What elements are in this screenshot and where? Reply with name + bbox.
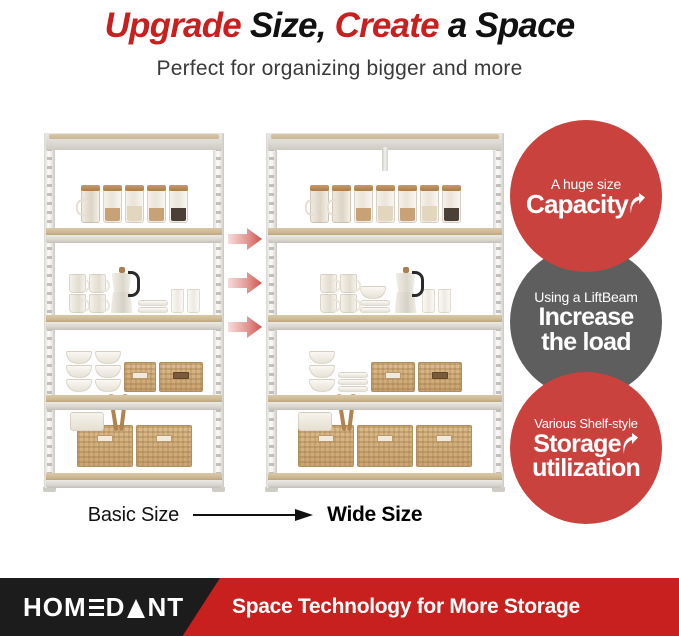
page-subtitle: Perfect for organizing bigger and more xyxy=(0,47,679,81)
shelf-items-tableware xyxy=(56,267,212,313)
plate-stack xyxy=(338,372,368,392)
page-title: Upgrade Size, Create a Space xyxy=(0,0,679,47)
mug-stack xyxy=(320,274,337,313)
shelf-post-left xyxy=(44,133,55,488)
brand-logo-part2: D xyxy=(106,592,126,623)
folded-towel xyxy=(70,412,104,431)
folded-towel xyxy=(298,412,332,431)
wicker-basket xyxy=(418,362,462,392)
mug xyxy=(340,294,357,313)
brand-logo: HOM D NT xyxy=(23,578,184,636)
mug xyxy=(69,274,86,293)
mug xyxy=(69,294,86,313)
brand-logo-a-glyph xyxy=(127,599,145,618)
plate xyxy=(360,300,390,306)
shelf-board-3 xyxy=(46,395,222,410)
shelf-post-right xyxy=(213,133,224,488)
plate xyxy=(338,386,368,392)
brand-logo-part1: HOM xyxy=(23,592,87,623)
size-comparison-labels: Basic Size Wide Size xyxy=(0,498,510,532)
bowl xyxy=(309,379,335,392)
plate xyxy=(338,379,368,385)
badge-capacity-headline-text: Capacity xyxy=(526,192,628,217)
badge-storage-headline-2: utilization xyxy=(532,456,640,480)
moka-pot xyxy=(109,267,135,313)
glass-jar xyxy=(169,189,188,223)
mug xyxy=(320,274,337,293)
glass-jar xyxy=(125,189,144,223)
plate-stack xyxy=(360,286,390,313)
glass-jar xyxy=(442,189,461,223)
wicker-basket xyxy=(124,362,156,392)
title-word-upgrade: Upgrade xyxy=(105,6,241,45)
glass-jar xyxy=(103,189,122,223)
wicker-basket-large xyxy=(77,425,133,467)
bowl xyxy=(95,379,121,392)
bowl xyxy=(95,365,121,378)
mug-stack xyxy=(340,274,357,313)
plate xyxy=(138,300,168,306)
header: Upgrade Size, Create a Space Perfect for… xyxy=(0,0,679,100)
up-arrow-icon xyxy=(622,433,639,455)
wicker-basket-large xyxy=(416,425,472,467)
ceramic-jar xyxy=(332,189,351,223)
badge-increase-load-headline-2: the load xyxy=(541,330,630,355)
badge-capacity-headline: Capacity xyxy=(526,192,646,217)
shelf-board-3 xyxy=(268,395,502,410)
mug xyxy=(89,294,106,313)
shelf-board-1 xyxy=(46,228,222,243)
mug xyxy=(320,294,337,313)
bowl xyxy=(66,351,92,364)
brand-logo-part3: NT xyxy=(147,592,184,623)
transition-arrow-icon xyxy=(228,272,262,294)
badge-storage-utilization: Various Shelf-style Storage utilization xyxy=(510,372,662,524)
mug xyxy=(340,274,357,293)
bowl-stack xyxy=(66,351,92,392)
shelf-board-4 xyxy=(46,473,222,488)
shelf-items-storage-baskets xyxy=(56,425,212,467)
badge-increase-load-headline-1: Increase xyxy=(538,305,633,330)
label-wide-size: Wide Size xyxy=(327,503,422,527)
shelf-top-cap xyxy=(46,133,222,150)
plate xyxy=(138,307,168,313)
title-word-create: Create xyxy=(335,6,439,45)
wicker-basket-large xyxy=(298,425,354,467)
drinking-glass xyxy=(171,289,184,313)
bowl xyxy=(66,365,92,378)
shelf-unit-wide xyxy=(266,133,504,488)
label-basic-size: Basic Size xyxy=(88,504,179,527)
footer-tagline: Space Technology for More Storage xyxy=(232,578,580,636)
bowl xyxy=(309,365,335,378)
shelf-items-storage-baskets xyxy=(278,425,492,467)
feature-badges: A huge size Capacity Using a LiftBeam In… xyxy=(500,120,679,520)
glass-jar xyxy=(398,189,417,223)
badge-storage-headline-text: Storage xyxy=(533,432,620,456)
wicker-basket xyxy=(159,362,203,392)
shelf-items-bowls-baskets xyxy=(278,351,492,392)
shelf-post-left xyxy=(266,133,277,488)
transition-arrow-icon xyxy=(228,228,262,250)
shelf-post-right xyxy=(493,133,504,488)
bowl-stack xyxy=(95,351,121,392)
glass-jar xyxy=(420,189,439,223)
shelf-items-jars xyxy=(56,189,212,223)
mug-stack xyxy=(89,274,106,313)
footer-bar: HOM D NT Space Technology for More Stora… xyxy=(0,578,679,636)
moka-pot xyxy=(393,267,419,313)
drinking-glass xyxy=(422,289,435,313)
transition-arrow-icon xyxy=(228,316,262,338)
shelf-items-bowls-baskets xyxy=(56,351,212,392)
glass-jar xyxy=(376,189,395,223)
wicker-basket-large xyxy=(136,425,192,467)
drinking-glass xyxy=(187,289,200,313)
shelf-board-2 xyxy=(46,315,222,330)
wicker-basket-large xyxy=(357,425,413,467)
shelf-unit-basic xyxy=(44,133,224,488)
shelf-items-jars xyxy=(278,189,492,223)
badge-storage-headline-1: Storage xyxy=(533,432,638,456)
shelf-board-4 xyxy=(268,473,502,488)
glass-jar xyxy=(354,189,373,223)
ceramic-jar xyxy=(81,189,100,223)
title-word-size: Size, xyxy=(250,6,326,45)
shelf-items-tableware xyxy=(278,267,492,313)
plate xyxy=(338,372,368,378)
ceramic-jar xyxy=(310,189,329,223)
lift-beam-support xyxy=(382,147,388,171)
bowl xyxy=(309,351,335,364)
title-word-a-space: a Space xyxy=(448,6,575,45)
mug xyxy=(89,274,106,293)
up-arrow-icon xyxy=(629,193,646,215)
shelf-board-2 xyxy=(268,315,502,330)
comparison-arrow-icon xyxy=(193,509,313,521)
badge-capacity: A huge size Capacity xyxy=(510,120,662,272)
brand-logo-e-glyph xyxy=(89,598,104,616)
glass-jar xyxy=(147,189,166,223)
wicker-basket xyxy=(371,362,415,392)
drinking-glass xyxy=(438,289,451,313)
plate-stack xyxy=(138,300,168,313)
bowl xyxy=(95,351,121,364)
plate xyxy=(360,307,390,313)
bowl xyxy=(360,286,386,299)
bowl xyxy=(66,379,92,392)
bowl-stack xyxy=(309,351,335,392)
transition-arrows xyxy=(228,228,264,348)
mug-stack xyxy=(69,274,86,313)
shelf-board-1 xyxy=(268,228,502,243)
